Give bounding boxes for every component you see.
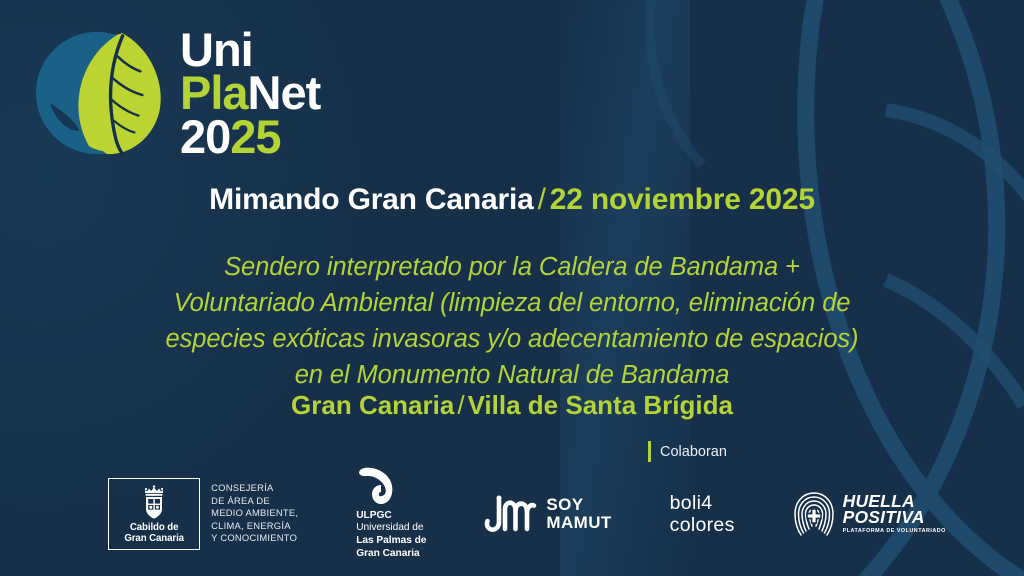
logo-ulpgc: ULPGC Universidad de Las Palmas de Gran … bbox=[356, 467, 426, 560]
headline-date: 22 noviembre 2025 bbox=[550, 183, 815, 216]
boli4-colores-text: boli4 colores bbox=[670, 492, 735, 536]
green-accent-bar-icon bbox=[648, 441, 651, 462]
collaborators-label: Colaboran bbox=[660, 444, 727, 460]
brand-year-25: 25 bbox=[230, 110, 280, 163]
cabildo-department-text: CONSEJERÍA DE ÁREA DE MEDIO AMBIENTE, CL… bbox=[211, 482, 298, 544]
boli4-line1: boli4 bbox=[670, 492, 713, 514]
boli4-line2: colores bbox=[670, 514, 735, 536]
ulpgc-line3: Gran Canaria bbox=[356, 548, 419, 559]
soy-mamut-monogram-icon bbox=[484, 495, 538, 533]
uniplanet-brand-logo: Uni PlaNet 2025 bbox=[28, 24, 320, 162]
brand-line-uni: Uni bbox=[180, 28, 320, 71]
brand-year-20: 20 bbox=[180, 110, 230, 163]
fingerprint-plus-icon bbox=[793, 491, 835, 537]
cabildo-logo-box: Cabildo de Gran Canaria bbox=[108, 478, 200, 550]
collaborator-logos-row: Cabildo de Gran Canaria CONSEJERÍA DE ÁR… bbox=[0, 466, 1024, 561]
huella-tagline: PLATAFORMA DE VOLUNTARIADO bbox=[843, 529, 946, 534]
location-separator: / bbox=[454, 390, 467, 420]
cabildo-name: Cabildo de Gran Canaria bbox=[124, 522, 184, 544]
logo-boli4-colores: boli4 colores bbox=[670, 492, 735, 536]
soy-mamut-line1: SOY bbox=[546, 495, 583, 514]
cabildo-name-line2: Gran Canaria bbox=[124, 533, 184, 544]
ulpgc-acronym: ULPGC bbox=[356, 510, 391, 521]
location-island: Gran Canaria bbox=[291, 390, 454, 420]
cabildo-name-line1: Cabildo de bbox=[130, 522, 179, 533]
uniplanet-leaf-logo-icon bbox=[28, 24, 166, 162]
soy-mamut-text: SOY MAMUT bbox=[546, 496, 611, 531]
ulpgc-line1: Universidad de bbox=[356, 522, 423, 533]
huella-positiva-text: HUELLA POSITIVA PLATAFORMA DE VOLUNTARIA… bbox=[843, 493, 946, 534]
location-municipality: Villa de Santa Brígida bbox=[468, 390, 733, 420]
logo-cabildo-gran-canaria: Cabildo de Gran Canaria CONSEJERÍA DE ÁR… bbox=[108, 478, 298, 550]
brand-line-year: 2025 bbox=[180, 115, 320, 158]
description-line-4: en el Monumento Natural de Bandama bbox=[62, 357, 962, 393]
event-description: Sendero interpretado por la Caldera de B… bbox=[62, 249, 962, 393]
brand-line-planet: PlaNet bbox=[180, 71, 320, 114]
huella-line2: POSITIVA bbox=[843, 509, 946, 527]
headline-separator: / bbox=[534, 183, 550, 216]
event-headline: Mimando Gran Canaria/22 noviembre 2025 bbox=[0, 183, 1024, 217]
ulpgc-swoosh-icon bbox=[357, 467, 396, 505]
logo-huella-positiva: HUELLA POSITIVA PLATAFORMA DE VOLUNTARIA… bbox=[793, 491, 946, 537]
cabildo-crest-icon bbox=[139, 484, 169, 520]
description-line-2: Voluntariado Ambiental (limpieza del ent… bbox=[62, 285, 962, 321]
event-poster: Uni PlaNet 2025 Mimando Gran Canaria/22 … bbox=[0, 0, 1024, 576]
collaborators-heading: Colaboran bbox=[648, 441, 727, 462]
description-line-1: Sendero interpretado por la Caldera de B… bbox=[62, 249, 962, 285]
event-location: Gran Canaria/Villa de Santa Brígida bbox=[0, 390, 1024, 421]
soy-mamut-line2: MAMUT bbox=[546, 513, 611, 532]
ulpgc-line2: Las Palmas de bbox=[356, 535, 426, 546]
ulpgc-text: ULPGC Universidad de Las Palmas de Gran … bbox=[356, 510, 426, 560]
logo-soy-mamut: SOY MAMUT bbox=[484, 495, 611, 533]
headline-title: Mimando Gran Canaria bbox=[209, 183, 533, 216]
description-line-3: especies exóticas invasoras y/o adecenta… bbox=[62, 321, 962, 357]
